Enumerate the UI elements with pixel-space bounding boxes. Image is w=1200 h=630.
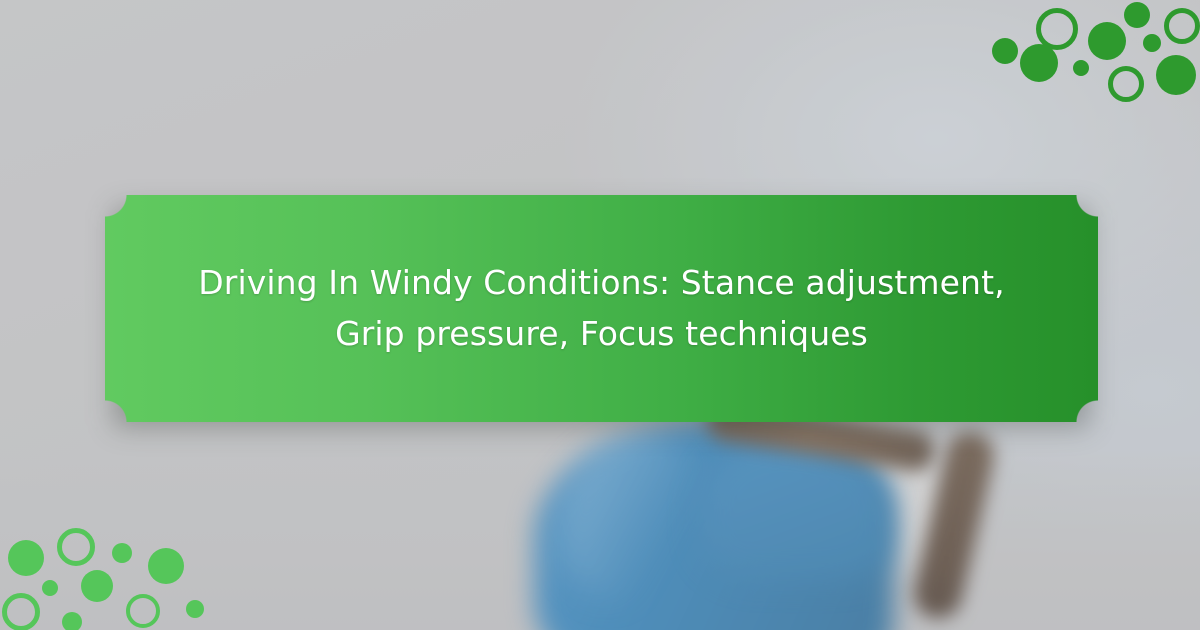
decoration-bottom-left-dot-2: [112, 543, 132, 563]
decoration-bottom-left-dot-7: [126, 594, 160, 628]
decoration-top-right-dot-4: [1073, 60, 1089, 76]
title-banner: Driving In Windy Conditions: Stance adju…: [105, 195, 1098, 422]
banner-title-text: Driving In Windy Conditions: Stance adju…: [175, 258, 1029, 358]
decoration-top-right-dot-9: [1156, 55, 1196, 95]
decoration-top-right-dot-0: [992, 38, 1018, 64]
decoration-top-right-dot-6: [1143, 34, 1161, 52]
decoration-top-right-dot-5: [1124, 2, 1150, 28]
decoration-bottom-left-dot-9: [186, 600, 204, 618]
decoration-top-right-dot-8: [1108, 66, 1144, 102]
decoration-bottom-left-dot-3: [148, 548, 184, 584]
decoration-bottom-left-dot-5: [81, 570, 113, 602]
decoration-top-right-dot-2: [1020, 44, 1058, 82]
banner-surface: Driving In Windy Conditions: Stance adju…: [105, 195, 1098, 422]
decoration-bottom-left-dot-6: [2, 593, 40, 630]
decoration-top-right-dot-7: [1164, 8, 1200, 44]
decoration-bottom-left-dot-0: [8, 540, 44, 576]
decoration-dots-bottom-left: [0, 510, 220, 630]
decoration-bottom-left-dot-8: [62, 612, 82, 630]
decoration-bottom-left-dot-1: [57, 528, 95, 566]
decoration-dots-top-right: [980, 0, 1200, 110]
decoration-top-right-dot-3: [1088, 22, 1126, 60]
social-share-card: Driving In Windy Conditions: Stance adju…: [0, 0, 1200, 630]
decoration-bottom-left-dot-4: [42, 580, 58, 596]
